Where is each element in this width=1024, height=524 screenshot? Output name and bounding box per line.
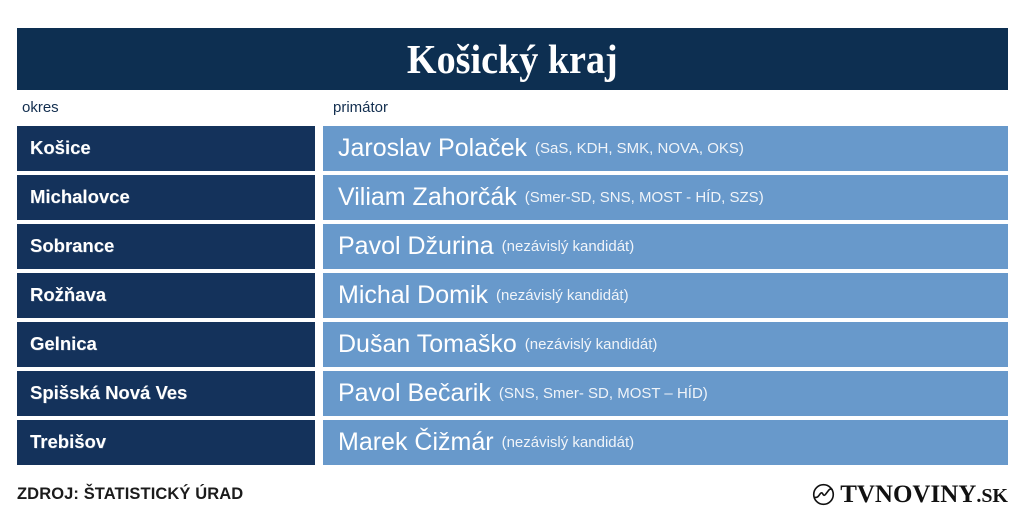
district-cell: Michalovce (17, 175, 315, 220)
table-row: MichalovceViliam Zahorčák(Smer-SD, SNS, … (0, 175, 1024, 224)
mayor-name: Jaroslav Polaček (338, 136, 527, 161)
table-row: Spišská Nová VesPavol Bečarik(SNS, Smer-… (0, 371, 1024, 420)
column-header-district: okres (22, 100, 59, 115)
source-attribution: ZDROJ: ŠTATISTICKÝ ÚRAD (17, 486, 243, 503)
districts-table: KošiceJaroslav Polaček(SaS, KDH, SMK, NO… (0, 126, 1024, 469)
mayor-cell: Pavol Džurina(nezávislý kandidát) (323, 224, 1008, 269)
mayor-party-affiliation: (nezávislý kandidát) (525, 337, 658, 353)
table-row: SobrancePavol Džurina(nezávislý kandidát… (0, 224, 1024, 273)
table-row: RožňavaMichal Domik(nezávislý kandidát) (0, 273, 1024, 322)
footer: ZDROJ: ŠTATISTICKÝ ÚRAD TVNOVINY.SK (0, 475, 1024, 524)
mayor-party-affiliation: (nezávislý kandidát) (502, 435, 635, 451)
district-cell: Gelnica (17, 322, 315, 367)
table-row: GelnicaDušan Tomaško(nezávislý kandidát) (0, 322, 1024, 371)
district-name: Michalovce (30, 188, 130, 207)
mayor-name: Michal Domik (338, 283, 488, 308)
district-name: Rožňava (30, 286, 106, 305)
mayor-party-affiliation: (nezávislý kandidát) (496, 288, 629, 304)
table-row: TrebišovMarek Čižmár(nezávislý kandidát) (0, 420, 1024, 469)
mayor-cell: Pavol Bečarik(SNS, Smer- SD, MOST – HÍD) (323, 371, 1008, 416)
mayor-name: Pavol Bečarik (338, 381, 491, 406)
mayor-party-affiliation: (SNS, Smer- SD, MOST – HÍD) (499, 386, 708, 402)
mayor-name: Marek Čižmár (338, 430, 494, 455)
mayor-cell: Michal Domik(nezávislý kandidát) (323, 273, 1008, 318)
logo-name: TVNOVINY (840, 481, 976, 508)
mayor-party-affiliation: (Smer-SD, SNS, MOST - HÍD, SZS) (525, 190, 764, 206)
logo-tld: .SK (976, 485, 1008, 507)
district-name: Spišská Nová Ves (30, 384, 187, 403)
page-title: Košický kraj (407, 39, 618, 80)
tvnoviny-circle-wave-icon (812, 483, 835, 506)
mayor-party-affiliation: (SaS, KDH, SMK, NOVA, OKS) (535, 141, 744, 157)
district-cell: Košice (17, 126, 315, 171)
district-name: Sobrance (30, 237, 114, 256)
mayor-cell: Jaroslav Polaček(SaS, KDH, SMK, NOVA, OK… (323, 126, 1008, 171)
infographic-root: Košický kraj okres primátor KošiceJarosl… (0, 0, 1024, 524)
district-cell: Spišská Nová Ves (17, 371, 315, 416)
district-name: Gelnica (30, 335, 97, 354)
mayor-cell: Viliam Zahorčák(Smer-SD, SNS, MOST - HÍD… (323, 175, 1008, 220)
column-header-mayor: primátor (333, 100, 388, 115)
mayor-name: Pavol Džurina (338, 234, 494, 259)
district-cell: Trebišov (17, 420, 315, 465)
mayor-party-affiliation: (nezávislý kandidát) (502, 239, 635, 255)
mayor-name: Viliam Zahorčák (338, 185, 517, 210)
logo-wordmark: TVNOVINY.SK (840, 482, 1008, 507)
table-row: KošiceJaroslav Polaček(SaS, KDH, SMK, NO… (0, 126, 1024, 175)
district-name: Košice (30, 139, 91, 158)
title-bar: Košický kraj (17, 28, 1008, 90)
mayor-cell: Marek Čižmár(nezávislý kandidát) (323, 420, 1008, 465)
district-name: Trebišov (30, 433, 106, 452)
mayor-name: Dušan Tomaško (338, 332, 517, 357)
mayor-cell: Dušan Tomaško(nezávislý kandidát) (323, 322, 1008, 367)
tvnoviny-logo[interactable]: TVNOVINY.SK (812, 482, 1008, 507)
district-cell: Rožňava (17, 273, 315, 318)
district-cell: Sobrance (17, 224, 315, 269)
